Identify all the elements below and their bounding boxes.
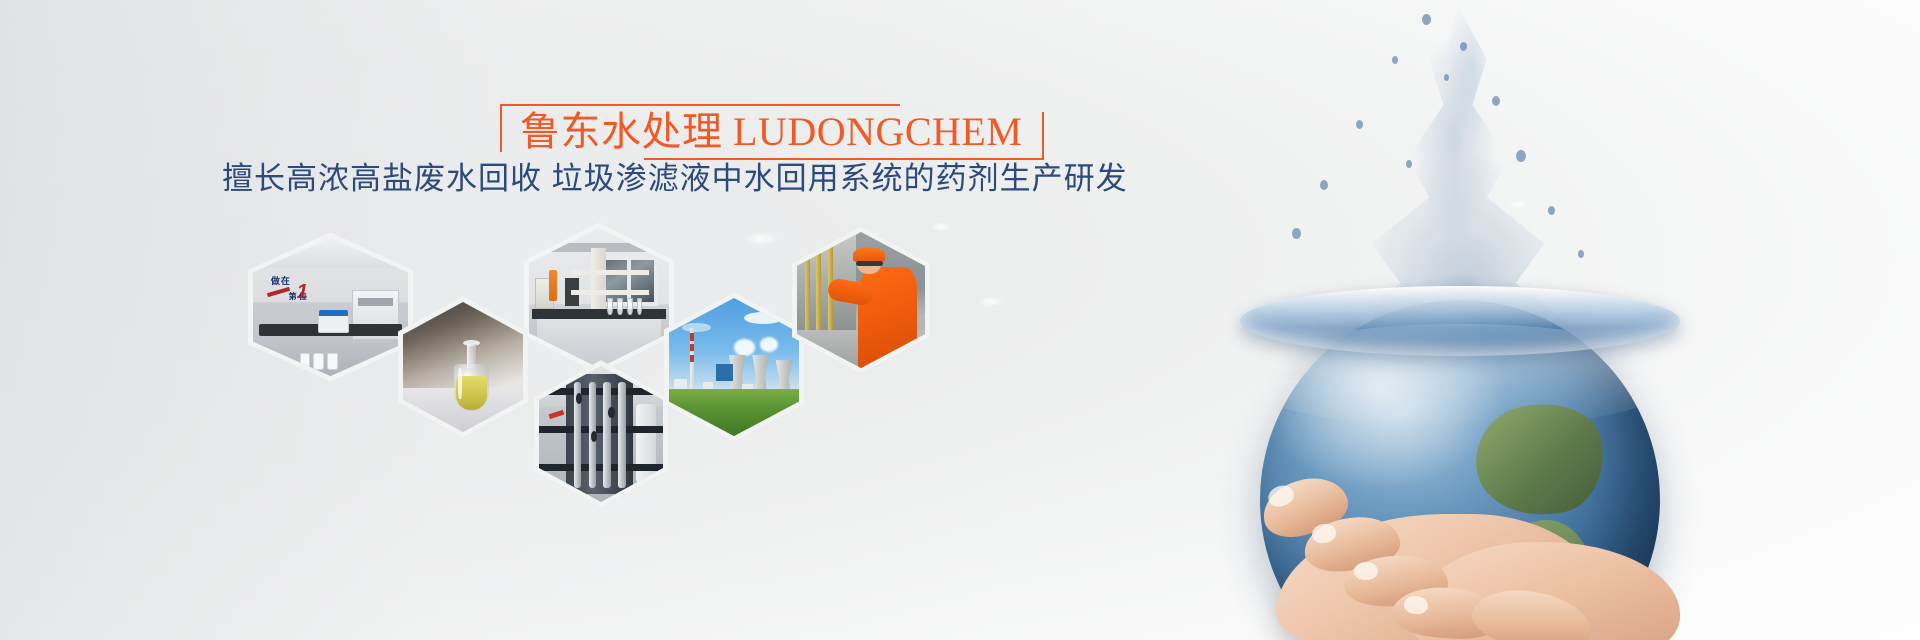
water-droplet [1578,250,1584,258]
fingernail [1354,562,1378,580]
hands-holding-globe [1224,470,1694,640]
bracket-top-left-horizontal [500,104,900,106]
water-droplet [1444,74,1449,81]
page-subtitle: 擅长高浓高盐废水回收 垃圾渗滤液中水回用系统的药剂生产研发 [222,160,1128,199]
globe-water-rim [1240,286,1680,356]
hex-tile-industrial-piping [534,360,668,508]
page-title: 鲁东水处理 LUDONGCHEM [520,110,1022,153]
headline-bracket-box: 鲁东水处理 LUDONGCHEM [500,104,1044,160]
hex-tile-laboratory-room: 做在 第 位 1 [248,232,413,382]
hero-banner: 鲁东水处理 LUDONGCHEM 擅长高浓高盐废水回收 垃圾渗滤液中水回用系统的… [0,0,1920,640]
water-droplet [1392,56,1398,64]
hex-tile-worker [792,226,930,374]
water-globe-artwork [1160,0,1920,640]
hex-tile-conical-flask [398,296,528,438]
wall-slogan: 做在 第 位 1 [265,274,333,307]
water-droplet [1406,160,1412,168]
bracket-top-left-vertical [500,104,502,152]
headline-block: 鲁东水处理 LUDONGCHEM [500,104,1044,160]
water-droplet [1292,228,1301,239]
hex-tile-lab-glassware [524,222,674,374]
water-droplet [1460,42,1467,51]
hex-tile-power-plant [664,292,804,442]
bracket-bottom-right-vertical [1042,112,1044,160]
water-droplet [1516,150,1526,162]
water-droplet [1320,180,1328,190]
water-droplet [1356,120,1363,129]
water-droplet [1548,206,1555,215]
water-droplet [1492,96,1500,106]
water-droplet [1422,14,1431,25]
